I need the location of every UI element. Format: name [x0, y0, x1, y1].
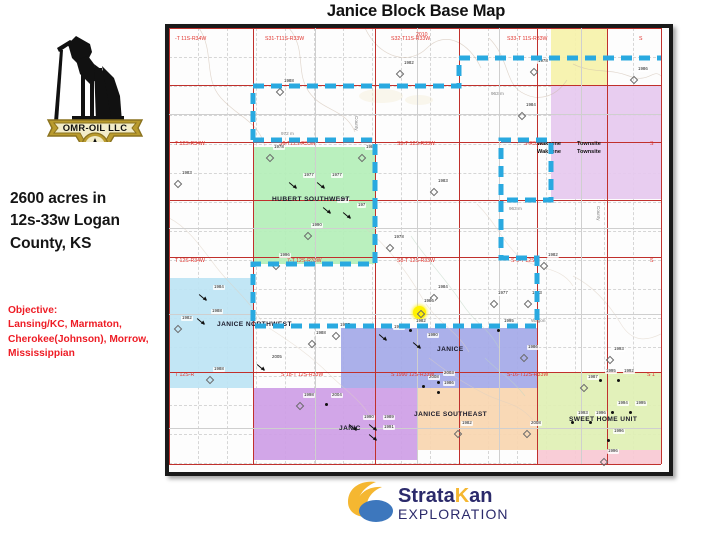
contour-lines — [169, 28, 661, 464]
section-label: S8-T 12S-R33W — [397, 258, 435, 264]
section-line-vertical — [661, 28, 662, 464]
elevation-label: 963 m — [509, 206, 522, 211]
acreage-line-1: 2600 acres in — [10, 188, 162, 210]
objective-line-3: Mississippian — [8, 347, 168, 361]
well-year-label: 1987 — [587, 375, 599, 380]
well-year-label: 1977 — [303, 173, 315, 178]
section-label: 7-T 12S-R33W — [287, 258, 322, 264]
well-year-label: 1993 — [613, 347, 625, 352]
quarter-line-horizontal — [169, 228, 661, 229]
stratakan-exploration-logo: StrataKan EXPLORATION — [340, 478, 520, 526]
omr-oil-logo: OMR-OIL LLC — [32, 30, 158, 142]
quarter-line-vertical — [315, 28, 316, 464]
block-name-label: JANICE SOUTHEAST — [414, 411, 487, 418]
elevation-label: Wagon — [531, 318, 545, 323]
well-year-label: 1982 — [461, 421, 473, 426]
well-year-label: 1988 — [393, 325, 405, 330]
well-year-label: 1988 — [213, 367, 225, 372]
slide-root: OMR-OIL LLC 2600 acres in 12s-33w Logan … — [0, 0, 720, 540]
section-label: T 12S-R — [175, 372, 194, 378]
quarter-line-horizontal — [169, 114, 661, 115]
well-year-label: 1988 — [315, 331, 327, 336]
well-year-label: 1990 — [363, 415, 375, 420]
well-year-label: 1977 — [331, 173, 343, 178]
well-year-label: 1982 — [415, 319, 427, 324]
elevation-label: 963 m — [491, 91, 504, 96]
overlay-label: Townsite — [577, 141, 601, 147]
section-label: S 18-T 12S-R33W — [281, 372, 323, 378]
well-year-label: 2008 — [530, 421, 542, 426]
stratakan-wordmark: StrataKan — [398, 485, 493, 507]
well-year-label: 1978 — [537, 59, 549, 64]
well-year-label: 1984 — [525, 103, 537, 108]
oil-well-icon[interactable] — [409, 329, 412, 332]
section-label: S 1 — [647, 372, 655, 378]
well-year-label: 1991 — [383, 425, 395, 430]
well-year-label: 1986 — [423, 299, 435, 304]
elevation-label: County — [596, 206, 601, 221]
oil-well-icon[interactable] — [611, 411, 614, 414]
section-label: S — [650, 141, 653, 147]
quarter-line-vertical — [581, 28, 582, 464]
well-year-label: 1982 — [547, 253, 559, 258]
overlay-label: Townsite — [577, 149, 601, 155]
section-label: S6-T12S-R33W — [279, 141, 316, 147]
block-name-label: JANIC — [339, 425, 361, 432]
omr-oil-logo-text: OMR-OIL LLC — [63, 122, 128, 133]
section-line-horizontal — [169, 464, 661, 465]
well-year-label: 1995 — [635, 401, 647, 406]
well-year-label: 1978 — [393, 235, 405, 240]
section-label: S — [639, 36, 642, 42]
page-title: Janice Block Base Map — [165, 2, 667, 21]
quarter-line-vertical — [417, 28, 418, 464]
well-year-label: 1988 — [211, 309, 223, 314]
well-year-label: 1984 — [213, 285, 225, 290]
section-line-horizontal — [169, 85, 661, 86]
oil-well-icon[interactable] — [422, 385, 425, 388]
well-year-label: 1992 — [623, 369, 635, 374]
section-label: S — [650, 258, 653, 264]
quarter-line-horizontal — [169, 428, 661, 429]
section-line-vertical — [375, 28, 376, 464]
well-year-label: 1996 — [607, 449, 619, 454]
section-label: S-16-T12S-R33W — [507, 372, 548, 378]
block-name-label: HUBERT SOUTHWEST — [272, 196, 350, 203]
block-name-label: JANICE NORTHWEST — [217, 321, 292, 328]
well-year-label: 1997 — [339, 323, 351, 328]
overlay-label: Wakeene — [537, 149, 561, 155]
well-year-label: 1977 — [497, 291, 509, 296]
objective-line-2: Cherokee(Johnson), Morrow, — [8, 333, 168, 347]
acreage-line-2: 12s-33w Logan — [10, 210, 162, 232]
section-label: S 1990 12S-R33W — [391, 372, 434, 378]
base-map-frame[interactable]: 1988198219781986198419781989198319771977… — [165, 24, 673, 476]
well-year-label: 1993 — [531, 291, 543, 296]
well-year-label: 1989 — [383, 415, 395, 420]
block-name-label: JANICE — [437, 346, 464, 353]
well-year-label: 1990 — [427, 333, 439, 338]
oil-well-icon[interactable] — [599, 379, 602, 382]
section-label: T 12S-R34W — [175, 141, 205, 147]
well-year-label: 2003 — [443, 371, 455, 376]
section-line-vertical — [537, 28, 538, 464]
section-line-vertical — [459, 28, 460, 464]
oil-well-icon[interactable] — [629, 411, 632, 414]
well-year-label: 1983 — [181, 171, 193, 176]
section-label: T 12S-R34W — [175, 258, 205, 264]
well-year-label: 2004 — [331, 393, 343, 398]
objective-block: Objective: Lansing/KC, Marmaton, Cheroke… — [8, 304, 168, 362]
well-year-label: 1986 — [443, 381, 455, 386]
section-line-vertical — [253, 28, 254, 464]
section-label: S-9-T 12S-R — [511, 258, 540, 264]
elevation-label: County — [354, 116, 359, 131]
well-year-label: 1983 — [437, 179, 449, 184]
section-line-horizontal — [169, 200, 661, 201]
well-year-label: 1986 — [637, 67, 649, 72]
well-year-label: 1990 — [311, 223, 323, 228]
well-year-label: 1994 — [617, 401, 629, 406]
well-year-label: 2005 — [271, 355, 283, 360]
well-year-label: 197 — [357, 203, 366, 208]
acreage-description: 2600 acres in 12s-33w Logan County, KS — [10, 188, 162, 255]
well-year-label: 1984 — [437, 285, 449, 290]
well-year-label: 1982 — [403, 61, 415, 66]
section-label: S31-T11S-R33W — [265, 36, 304, 42]
objective-heading: Objective: — [8, 304, 168, 318]
overlay-label: Wakeene — [537, 141, 561, 147]
acreage-line-3: County, KS — [10, 233, 162, 255]
well-year-label: 1995 — [605, 369, 617, 374]
map-canvas[interactable]: 1988198219781986198419781989198319771977… — [169, 28, 661, 464]
section-label: S33-T 11S-R33W — [507, 36, 547, 42]
oil-well-icon[interactable] — [617, 379, 620, 382]
oil-well-icon[interactable] — [607, 439, 610, 442]
section-line-horizontal — [169, 28, 661, 29]
well-year-label: 1988 — [283, 79, 295, 84]
block-name-label: SWEET HOME UNIT — [569, 416, 637, 423]
oil-well-icon[interactable] — [437, 381, 440, 384]
well-year-label: 1986 — [527, 345, 539, 350]
section-line-vertical — [607, 28, 608, 464]
oil-well-icon[interactable] — [325, 403, 328, 406]
well-year-label: 1998 — [303, 393, 315, 398]
section-label: -T 11S-R34W — [175, 36, 206, 42]
oil-well-icon[interactable] — [497, 329, 500, 332]
well-year-label: 1982 — [181, 316, 193, 321]
well-year-label: 1996 — [613, 429, 625, 434]
elevation-label: 972 m — [281, 131, 294, 136]
well-year-label: 1989 — [365, 145, 377, 150]
stratakan-subtitle: EXPLORATION — [398, 506, 509, 522]
section-line-vertical — [169, 28, 170, 464]
section-label: S5-T 12S-R33W — [397, 141, 435, 147]
objective-line-1: Lansing/KC, Marmaton, — [8, 318, 168, 332]
section-label: S32-T11S-R33W — [391, 36, 430, 42]
oil-well-icon[interactable] — [437, 391, 440, 394]
well-year-label: 1995 — [503, 319, 515, 324]
